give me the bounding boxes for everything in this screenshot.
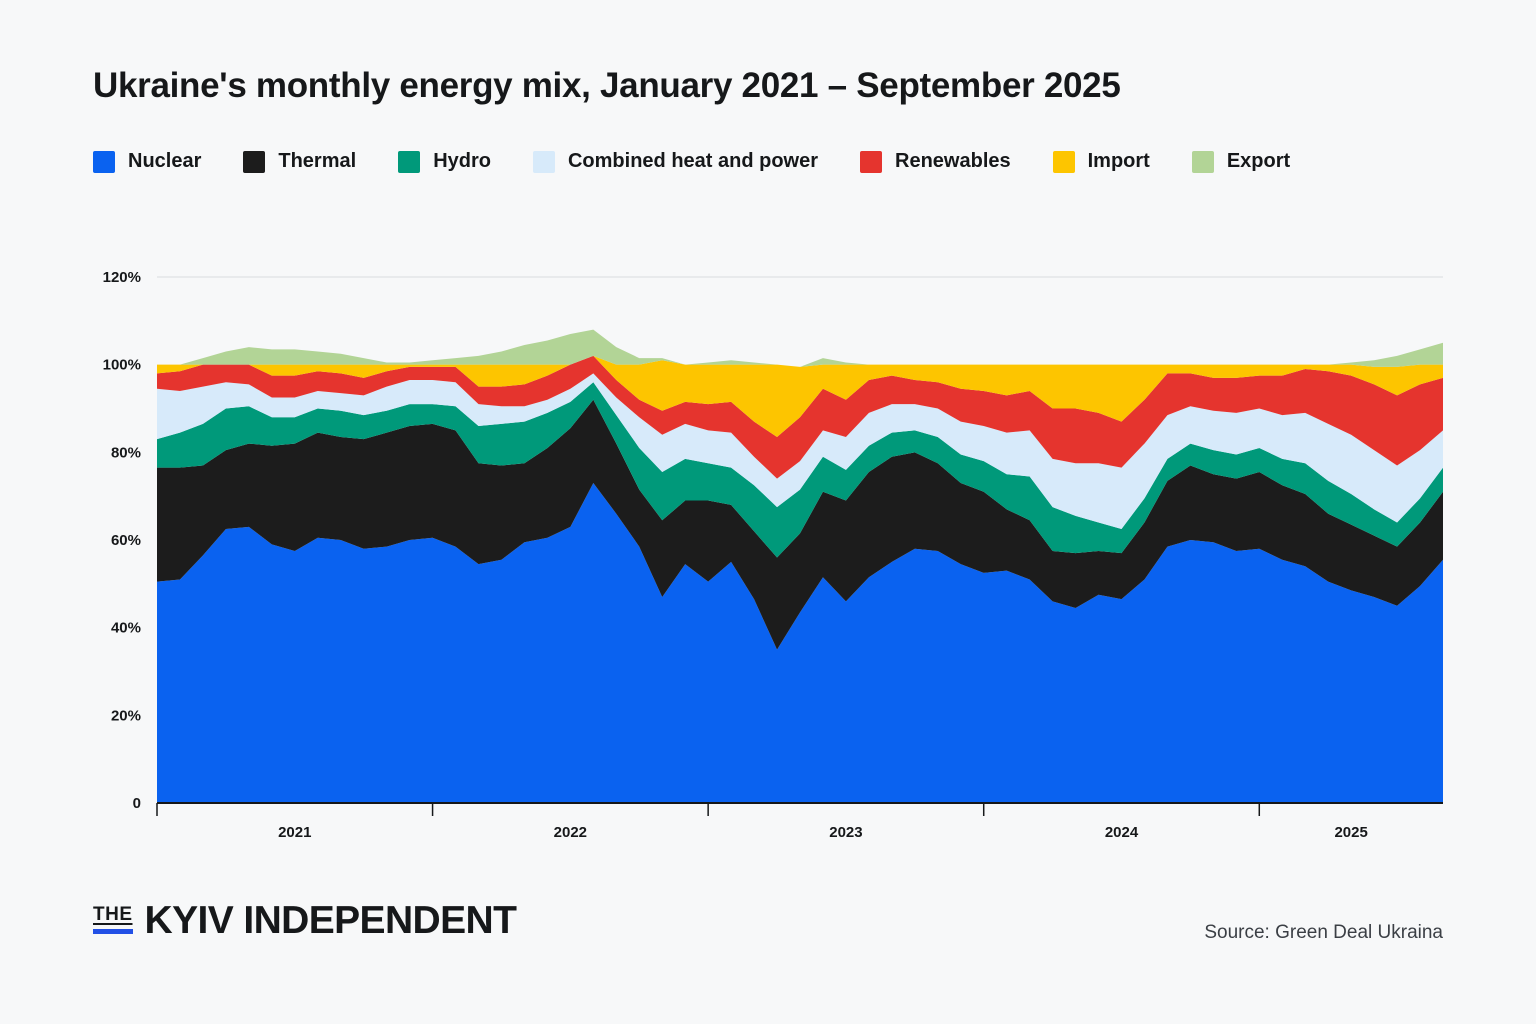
logo-the-block: THE — [93, 905, 133, 934]
x-tick-label-2025: 2025 — [1334, 824, 1367, 841]
x-tick-label-2024: 2024 — [1105, 824, 1139, 841]
y-tick-label-60: 60% — [111, 532, 141, 549]
y-tick-label-100: 100% — [103, 357, 141, 374]
y-tick-label-80: 80% — [111, 444, 141, 461]
chart-container: 020%40%60%80%100%120%2021202220232024202… — [0, 0, 1536, 1024]
logo-wordmark: KYIV INDEPENDENT — [145, 902, 517, 939]
y-tick-label-40: 40% — [111, 620, 141, 637]
chart-page: Ukraine's monthly energy mix, January 20… — [0, 0, 1536, 1024]
area-series-export — [157, 330, 1443, 367]
x-tick-label-2023: 2023 — [829, 824, 862, 841]
source-note: Source: Green Deal Ukraina — [1204, 922, 1443, 944]
logo-the-text: THE — [93, 905, 133, 924]
logo-blue-bar — [93, 929, 133, 934]
y-tick-label-120: 120% — [103, 269, 141, 286]
kyiv-independent-logo: THE KYIV INDEPENDENT — [93, 902, 516, 939]
y-tick-label-0: 0 — [133, 795, 141, 812]
x-tick-label-2021: 2021 — [278, 824, 311, 841]
y-tick-label-20: 20% — [111, 707, 141, 724]
x-tick-label-2022: 2022 — [554, 824, 587, 841]
stacked-area-chart: 020%40%60%80%100%120%2021202220232024202… — [0, 0, 1536, 1024]
